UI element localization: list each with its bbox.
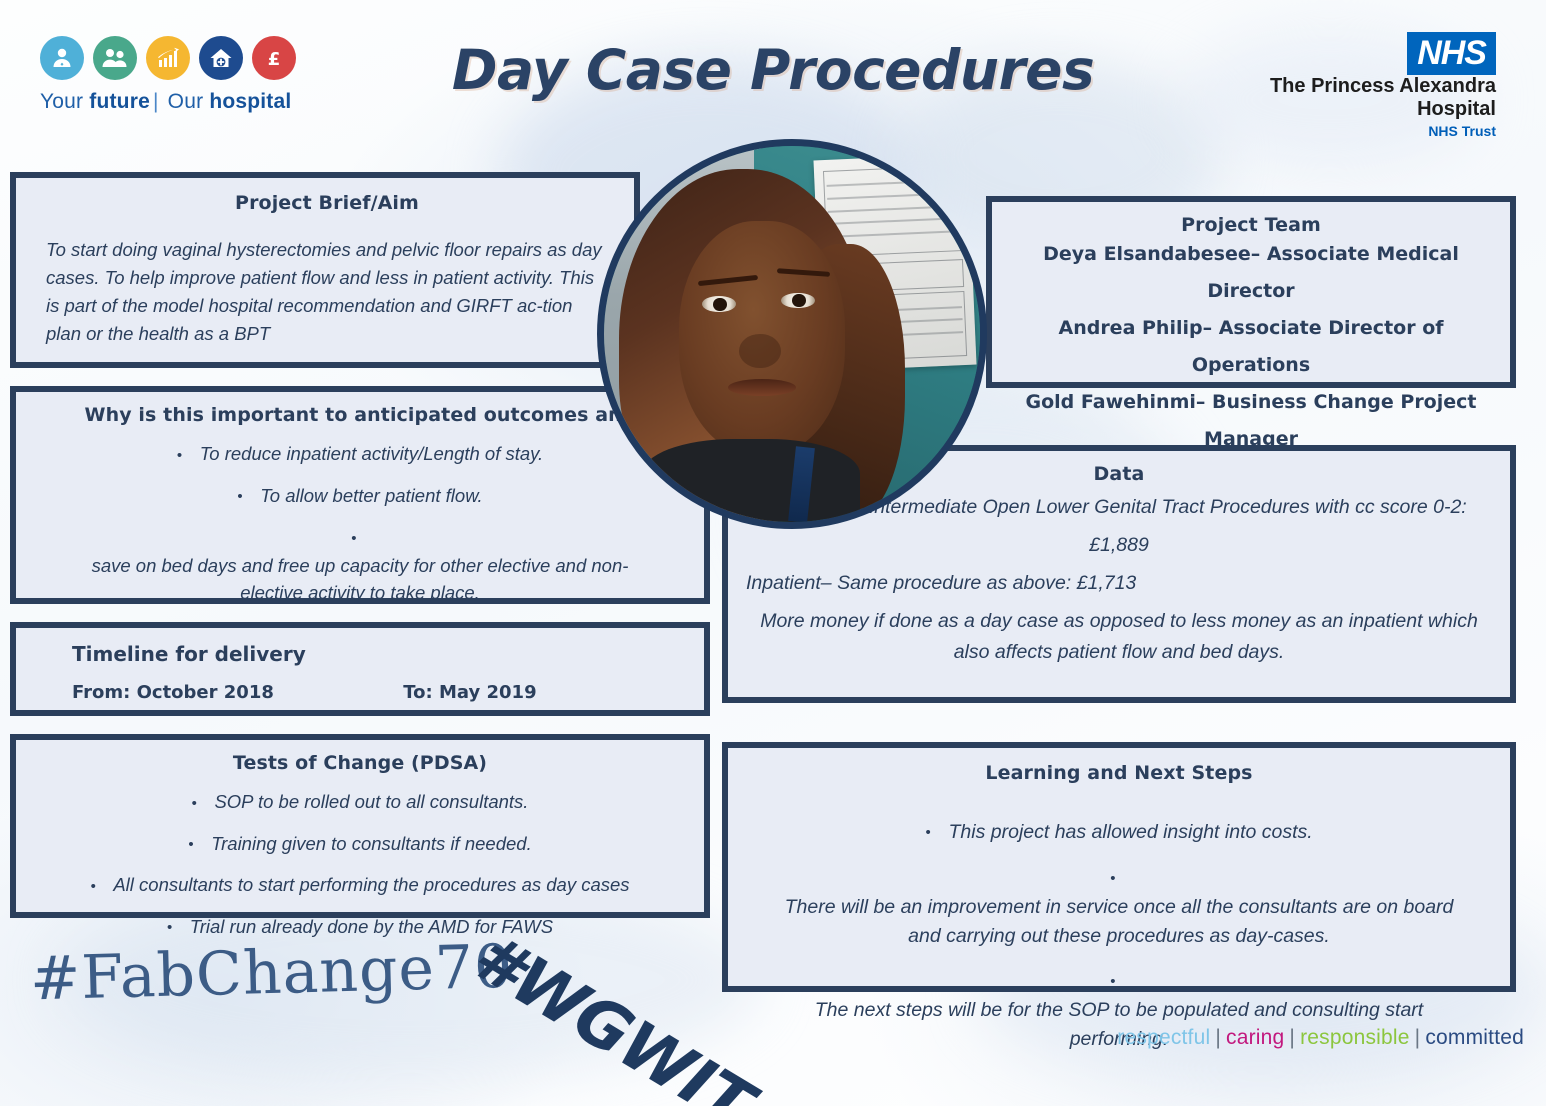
value-separator: | bbox=[1289, 1026, 1295, 1049]
bullet-dot: • bbox=[192, 790, 210, 817]
bullet-dot: • bbox=[1110, 864, 1128, 893]
list-item: • Training given to consultants if neede… bbox=[34, 830, 686, 859]
tests-of-change-title: Tests of Change (PDSA) bbox=[34, 752, 686, 774]
photo-pupil-left bbox=[713, 298, 727, 312]
list-item: • SOP to be rolled out to all consultant… bbox=[34, 788, 686, 817]
list-item: • To allow better patient flow. bbox=[38, 482, 682, 511]
nhs-trust-logo: NHS The Princess Alexandra Hospital NHS … bbox=[1270, 32, 1496, 140]
value-committed: committed bbox=[1425, 1026, 1524, 1049]
timeline-title: Timeline for delivery bbox=[72, 642, 704, 666]
bullet-dot: • bbox=[188, 831, 206, 858]
value-separator: | bbox=[1215, 1026, 1221, 1049]
team-member: Andrea Philip– Associate Director of Ope… bbox=[1008, 310, 1494, 384]
nhs-badge: NHS bbox=[1407, 32, 1496, 75]
photo-torso bbox=[642, 439, 860, 522]
timeline-panel: Timeline for delivery From: October 2018… bbox=[10, 622, 710, 716]
timeline-from: From: October 2018 bbox=[72, 682, 397, 703]
data-line-summary: More money if done as a day case as oppo… bbox=[746, 606, 1492, 668]
nhs-trust-name-line2: Hospital bbox=[1270, 98, 1496, 121]
project-team-title: Project Team bbox=[1008, 214, 1494, 236]
list-item-text: To reduce inpatient activity/Length of s… bbox=[200, 440, 544, 467]
list-item-text: save on bed days and free up capacity fo… bbox=[88, 552, 632, 606]
learning-next-steps-list: • This project has allowed insight into … bbox=[750, 818, 1488, 1054]
photo-nose bbox=[739, 334, 780, 368]
project-brief-panel: Project Brief/Aim To start doing vaginal… bbox=[10, 172, 640, 368]
photo-scene bbox=[604, 146, 980, 522]
list-item-text: This project has allowed insight into co… bbox=[949, 818, 1313, 847]
timeline-to: To: May 2019 bbox=[403, 682, 536, 703]
value-responsible: responsible bbox=[1300, 1026, 1410, 1049]
list-item: • All consultants to start performing th… bbox=[34, 871, 686, 900]
bullet-dot: • bbox=[1110, 967, 1128, 996]
learning-next-steps-panel: Learning and Next Steps • This project h… bbox=[722, 742, 1516, 992]
value-caring: caring bbox=[1226, 1026, 1284, 1049]
bullet-dot: • bbox=[167, 914, 185, 941]
list-item-text: SOP to be rolled out to all consultants. bbox=[214, 788, 528, 815]
tests-of-change-list: • SOP to be rolled out to all consultant… bbox=[34, 788, 686, 941]
list-item-text: All consultants to start performing the … bbox=[113, 871, 629, 898]
learning-next-steps-title: Learning and Next Steps bbox=[750, 762, 1488, 784]
value-separator: | bbox=[1415, 1026, 1421, 1049]
why-important-list: • To reduce inpatient activity/Length of… bbox=[38, 440, 682, 647]
poster-canvas: £ Your future| Our hospital Day Case Pro… bbox=[0, 0, 1546, 1106]
project-brief-body: To start doing vaginal hysterectomies an… bbox=[46, 236, 608, 348]
data-line-inpatient: Inpatient– Same procedure as above: £1,7… bbox=[746, 568, 1492, 599]
tests-of-change-panel: Tests of Change (PDSA) • SOP to be rolle… bbox=[10, 734, 710, 918]
value-respectful: respectful bbox=[1117, 1026, 1210, 1049]
list-item: • This project has allowed insight into … bbox=[750, 818, 1488, 847]
team-member: Deya Elsandabesee– Associate Medical Dir… bbox=[1008, 236, 1494, 310]
list-item-text: There will be an improvement in service … bbox=[780, 893, 1458, 951]
timeline-dates: From: October 2018 To: May 2019 bbox=[72, 682, 704, 703]
project-lead-portrait-photo bbox=[597, 139, 987, 529]
nhs-trust-subtitle: NHS Trust bbox=[1270, 122, 1496, 140]
fabchange70-hashtag: #FabChange70 bbox=[29, 932, 514, 1015]
bullet-dot: • bbox=[177, 442, 195, 469]
list-item: • There will be an improvement in servic… bbox=[750, 863, 1488, 950]
list-item-text: Training given to consultants if needed. bbox=[211, 830, 532, 857]
list-item-text: To allow better patient flow. bbox=[260, 482, 482, 509]
photo-pupil-right bbox=[792, 294, 806, 308]
data-day-case-cost: £1,889 bbox=[746, 530, 1492, 561]
wgwit-hashtag: #WGWIT bbox=[460, 918, 765, 1106]
trust-values-footer: respectful|caring|responsible|committed bbox=[1117, 1026, 1524, 1050]
project-brief-title: Project Brief/Aim bbox=[46, 192, 608, 214]
why-important-title: Why is this important to anticipated out… bbox=[38, 404, 682, 426]
bullet-dot: • bbox=[351, 525, 369, 552]
bullet-dot: • bbox=[925, 818, 943, 847]
list-item: • save on bed days and free up capacity … bbox=[38, 523, 682, 606]
bullet-dot: • bbox=[237, 483, 255, 510]
list-item: • To reduce inpatient activity/Length of… bbox=[38, 440, 682, 469]
nhs-trust-name-line1: The Princess Alexandra bbox=[1270, 75, 1496, 98]
project-team-panel: Project Team Deya Elsandabesee– Associat… bbox=[986, 196, 1516, 388]
photo-lips bbox=[728, 379, 796, 396]
bullet-dot: • bbox=[90, 873, 108, 900]
